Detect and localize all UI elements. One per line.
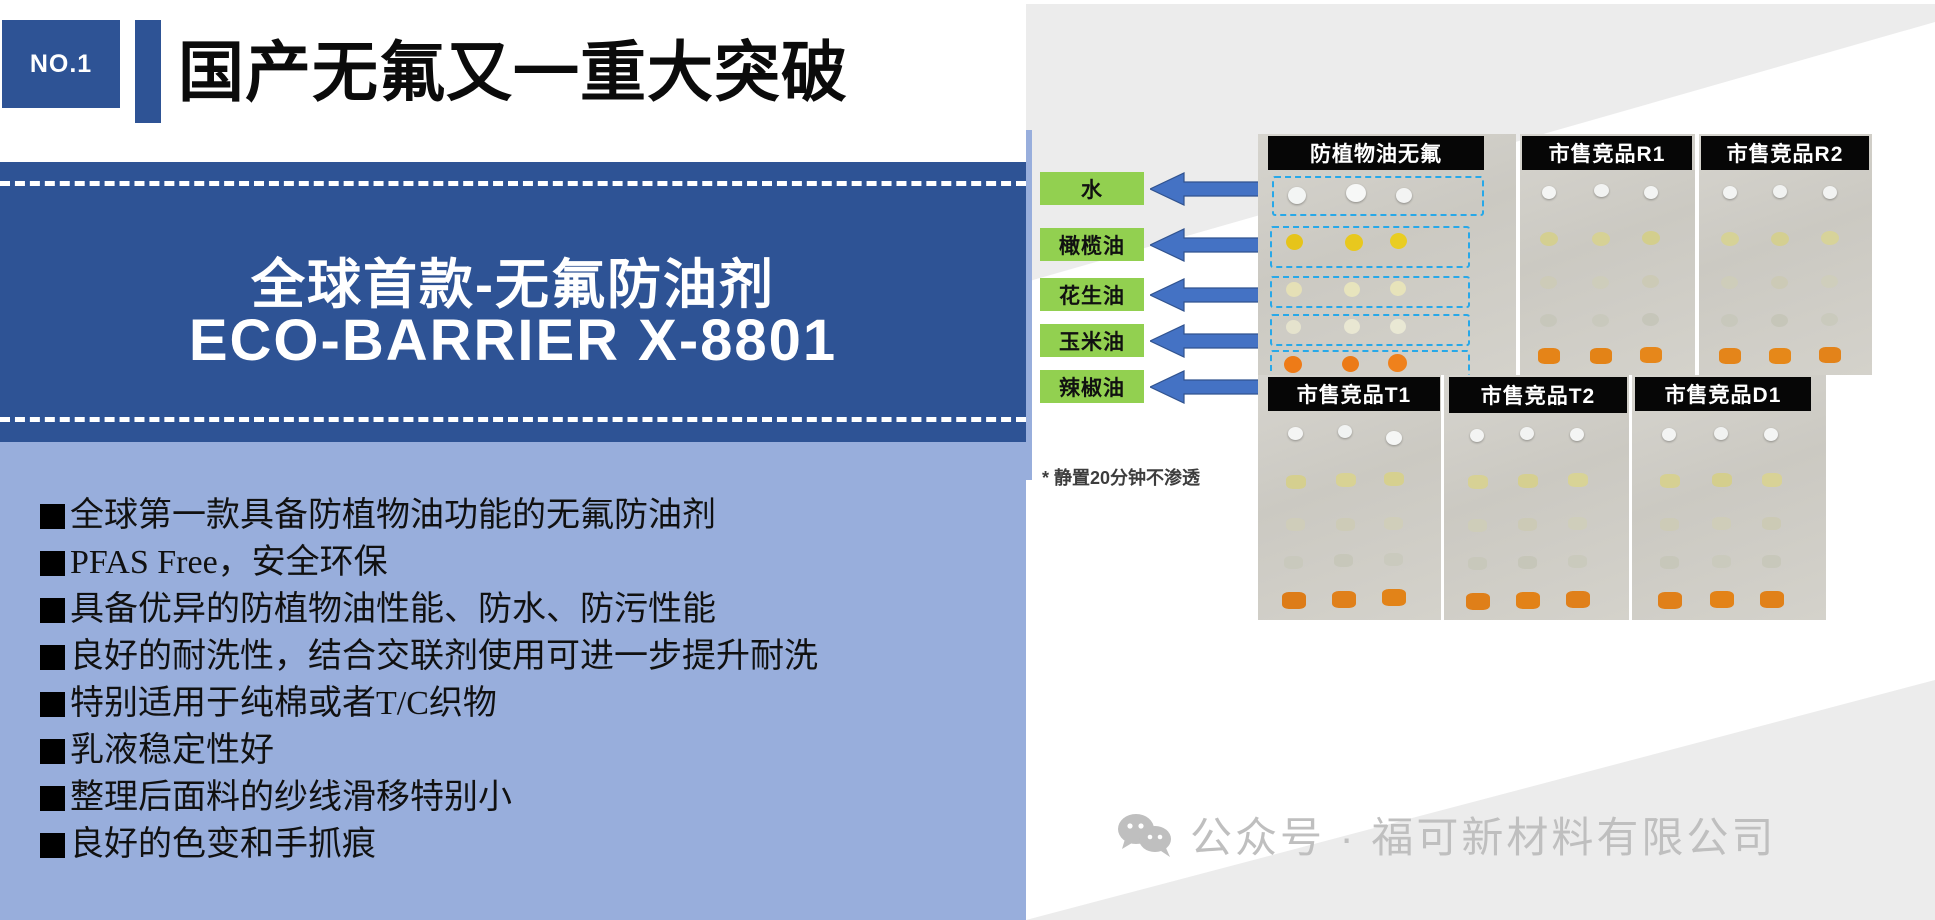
decorative-blue-edge: [1026, 130, 1032, 480]
panel-title: 市售竞品T1: [1268, 377, 1440, 411]
panel-title: 防植物油无氟: [1268, 136, 1484, 170]
sample-panel-competitor-d1[interactable]: 市售竞品D1: [1632, 375, 1826, 620]
feature-bullet-panel: 全球第一款具备防植物油功能的无氟防油剂 PFAS Free，安全环保 具备优异的…: [0, 442, 1026, 920]
test-spot: [1332, 591, 1356, 608]
test-spot: [1516, 592, 1540, 609]
test-spot: [1719, 348, 1741, 364]
test-spot: [1769, 348, 1791, 364]
test-spot: [1723, 186, 1737, 199]
test-spot: [1760, 591, 1784, 608]
test-spot: [1568, 517, 1587, 530]
list-item-label: 整理后面料的纱线滑移特别小: [70, 774, 512, 821]
panel-title: 市售竞品T2: [1449, 377, 1627, 413]
test-spot: [1821, 313, 1838, 326]
test-spot: [1642, 313, 1659, 326]
slide-canvas: NO.1 国产无氟又一重大突破 全球首款-无氟防油剂 ECO-BARRIER X…: [0, 0, 1935, 920]
panel-title: 市售竞品R2: [1701, 136, 1869, 170]
header-bar: NO.1 国产无氟又一重大突破: [0, 0, 1026, 160]
list-item-label: PFAS Free，安全环保: [70, 539, 388, 586]
list-item: PFAS Free，安全环保: [40, 539, 1026, 586]
test-spot: [1712, 555, 1731, 568]
test-spot: [1771, 232, 1789, 246]
test-spot: [1658, 592, 1682, 609]
test-spot: [1590, 348, 1612, 364]
hero-band: 全球首款-无氟防油剂 ECO-BARRIER X-8801: [0, 162, 1026, 442]
test-spot: [1540, 276, 1557, 289]
test-spot: [1542, 186, 1556, 199]
test-spot: [1336, 473, 1356, 487]
legend-row-water: 水: [1040, 172, 1144, 205]
highlight-box: [1270, 226, 1470, 268]
legend-chip: 水: [1040, 172, 1144, 205]
list-item: 具备优异的防植物油性能、防水、防污性能: [40, 586, 1026, 633]
test-spot: [1642, 231, 1660, 245]
sample-panel-own-product[interactable]: 防植物油无氟: [1258, 134, 1516, 375]
test-spot: [1721, 314, 1738, 327]
list-item-label: 特别适用于纯棉或者T/C织物: [70, 680, 497, 727]
footer-watermark: 公众号 · 福可新材料有限公司: [1116, 804, 1916, 865]
square-bullet-icon: [40, 692, 65, 717]
left-content-column: NO.1 国产无氟又一重大突破 全球首款-无氟防油剂 ECO-BARRIER X…: [0, 0, 1026, 920]
hero-dashed-rule-bottom: [0, 417, 1026, 422]
test-spot: [1284, 556, 1303, 569]
test-spot: [1518, 474, 1538, 488]
highlight-box: [1270, 314, 1470, 346]
list-item-label: 良好的色变和手抓痕: [70, 821, 376, 868]
list-item: 良好的耐洗性，结合交联剂使用可进一步提升耐洗: [40, 633, 1026, 680]
test-spot: [1540, 232, 1558, 246]
photo-row-bottom: 市售竞品T1 市售竞品T2: [1258, 375, 1826, 620]
test-spot: [1660, 556, 1679, 569]
hero-dashed-rule-top: [0, 181, 1026, 186]
test-spot: [1762, 555, 1781, 568]
page-title: 国产无氟又一重大突破: [178, 17, 998, 117]
highlight-box: [1270, 276, 1470, 308]
square-bullet-icon: [40, 786, 65, 811]
legend-chip: 花生油: [1040, 278, 1144, 311]
test-spot: [1773, 185, 1787, 198]
test-spot: [1592, 232, 1610, 246]
list-item: 良好的色变和手抓痕: [40, 821, 1026, 868]
test-spot: [1762, 517, 1781, 530]
test-spot: [1468, 557, 1487, 570]
test-spot: [1714, 427, 1728, 440]
panel-title: 市售竞品R1: [1522, 136, 1692, 170]
test-spot: [1518, 556, 1537, 569]
square-bullet-icon: [40, 833, 65, 858]
test-spot: [1660, 518, 1679, 531]
sample-panel-competitor-r2[interactable]: 市售竞品R2: [1699, 134, 1872, 375]
test-spot: [1470, 429, 1484, 442]
square-bullet-icon: [40, 598, 65, 623]
test-spot: [1771, 314, 1788, 327]
test-spot: [1286, 475, 1306, 489]
footer-label: 公众号 · 福可新材料有限公司: [1190, 804, 1776, 865]
test-spot: [1568, 473, 1588, 487]
test-spot: [1338, 425, 1352, 438]
test-spot: [1712, 473, 1732, 487]
legend-row-peanut-oil: 花生油: [1040, 278, 1144, 311]
square-bullet-icon: [40, 504, 65, 529]
test-spot: [1821, 275, 1838, 288]
fabric-swatch-photo: [1520, 134, 1695, 375]
test-spot: [1819, 347, 1841, 363]
test-spot: [1642, 275, 1659, 288]
test-spot: [1662, 428, 1676, 441]
test-spot: [1712, 517, 1731, 530]
test-spot: [1520, 427, 1534, 440]
list-item: 全球第一款具备防植物油功能的无氟防油剂: [40, 492, 1026, 539]
test-spot: [1382, 589, 1406, 606]
highlight-box: [1270, 350, 1470, 375]
test-spot: [1640, 347, 1662, 363]
test-spot: [1570, 428, 1584, 441]
test-spot: [1466, 593, 1490, 610]
square-bullet-icon: [40, 551, 65, 576]
photo-row-top: 防植物油无氟: [1258, 134, 1872, 375]
test-spot: [1468, 475, 1488, 489]
sample-panel-competitor-r1[interactable]: 市售竞品R1: [1520, 134, 1695, 375]
test-spot: [1762, 473, 1782, 487]
test-spot: [1568, 555, 1587, 568]
legend-chip: 橄榄油: [1040, 228, 1144, 261]
test-spot: [1538, 348, 1560, 364]
legend-row-olive-oil: 橄榄油: [1040, 228, 1144, 261]
highlight-box: [1272, 176, 1484, 216]
no1-badge: NO.1: [2, 20, 120, 108]
test-spot: [1644, 186, 1658, 199]
fabric-swatch-photo: [1699, 134, 1872, 375]
square-bullet-icon: [40, 645, 65, 670]
test-spot: [1288, 427, 1303, 440]
sample-panel-competitor-t1[interactable]: 市售竞品T1: [1258, 375, 1441, 620]
list-item-label: 全球第一款具备防植物油功能的无氟防油剂: [70, 492, 716, 539]
decorative-triangle-bottom: [1026, 620, 1935, 920]
list-item-label: 具备优异的防植物油性能、防水、防污性能: [70, 586, 716, 633]
title-accent-bar: [135, 20, 161, 123]
right-evidence-column: 水 橄榄油 花生油: [1026, 0, 1935, 920]
test-spot: [1468, 519, 1487, 532]
test-spot: [1710, 591, 1734, 608]
legend-chip: 辣椒油: [1040, 370, 1144, 403]
legend-chip: 玉米油: [1040, 324, 1144, 357]
list-item-label: 乳液稳定性好: [70, 727, 274, 774]
hero-product-name: ECO-BARRIER X-8801: [0, 307, 1026, 374]
test-spot: [1771, 276, 1788, 289]
panel-title: 市售竞品D1: [1635, 377, 1811, 411]
square-bullet-icon: [40, 739, 65, 764]
list-item-label: 良好的耐洗性，结合交联剂使用可进一步提升耐洗: [70, 633, 818, 680]
fabric-swatch-photo: [1632, 375, 1826, 620]
legend-row-corn-oil: 玉米油: [1040, 324, 1144, 357]
test-spot: [1823, 186, 1837, 199]
list-item: 乳液稳定性好: [40, 727, 1026, 774]
test-spot: [1592, 314, 1609, 327]
sample-panel-competitor-t2[interactable]: 市售竞品T2: [1444, 375, 1629, 620]
test-spot: [1721, 232, 1739, 246]
test-spot: [1336, 518, 1355, 531]
test-spot: [1566, 591, 1590, 608]
test-spot: [1384, 472, 1404, 486]
test-spot: [1518, 518, 1537, 531]
test-spot: [1384, 517, 1403, 530]
test-spot: [1594, 184, 1609, 197]
test-spot: [1334, 554, 1353, 567]
test-spot: [1764, 428, 1778, 441]
test-spot: [1592, 276, 1609, 289]
wechat-icon: [1116, 811, 1174, 859]
test-spot: [1721, 276, 1738, 289]
test-spot: [1386, 431, 1402, 445]
list-item: 整理后面料的纱线滑移特别小: [40, 774, 1026, 821]
test-spot: [1660, 474, 1680, 488]
test-spot: [1821, 231, 1839, 245]
test-spot: [1286, 518, 1305, 531]
legend-row-chili-oil: 辣椒油: [1040, 370, 1144, 403]
test-spot: [1540, 314, 1557, 327]
list-item: 特别适用于纯棉或者T/C织物: [40, 680, 1026, 727]
fabric-swatch-photo: [1258, 375, 1441, 620]
test-spot: [1282, 592, 1306, 609]
test-spot: [1384, 553, 1403, 566]
